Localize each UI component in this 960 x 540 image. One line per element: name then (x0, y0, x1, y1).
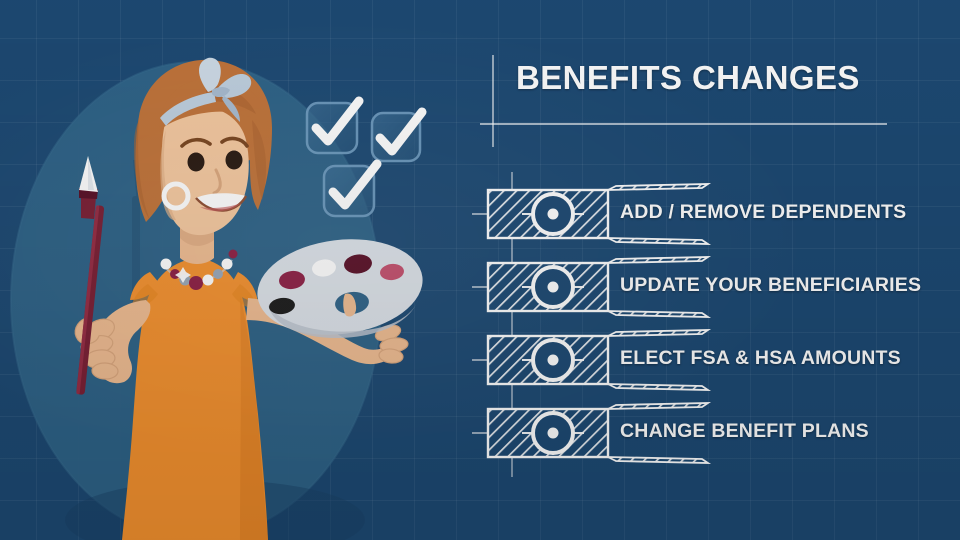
list-item[interactable]: UPDATE YOUR BENEFICIARIES (470, 255, 960, 328)
list-item[interactable]: CHANGE BENEFIT PLANS (470, 401, 960, 474)
list-item-label: ADD / REMOVE DEPENDENTS (620, 201, 906, 224)
illustration-woman-with-palette (0, 0, 470, 540)
list-item-label: CHANGE BENEFIT PLANS (620, 420, 869, 443)
list-item[interactable]: ADD / REMOVE DEPENDENTS (470, 182, 960, 255)
slide-canvas: BENEFITS CHANGES (0, 0, 960, 540)
list-item[interactable]: ELECT FSA & HSA AMOUNTS (470, 328, 960, 401)
list-item-label: UPDATE YOUR BENEFICIARIES (620, 274, 921, 297)
title-horizontal-rule (480, 123, 887, 125)
title-block: BENEFITS CHANGES (480, 55, 950, 150)
benefits-change-list: ADD / REMOVE DEPENDENTS UPDATE YOUR B (470, 182, 960, 474)
content-panel: BENEFITS CHANGES (470, 0, 960, 540)
page-title: BENEFITS CHANGES (516, 59, 860, 97)
title-vertical-rule (492, 55, 494, 147)
list-item-label: ELECT FSA & HSA AMOUNTS (620, 347, 901, 370)
